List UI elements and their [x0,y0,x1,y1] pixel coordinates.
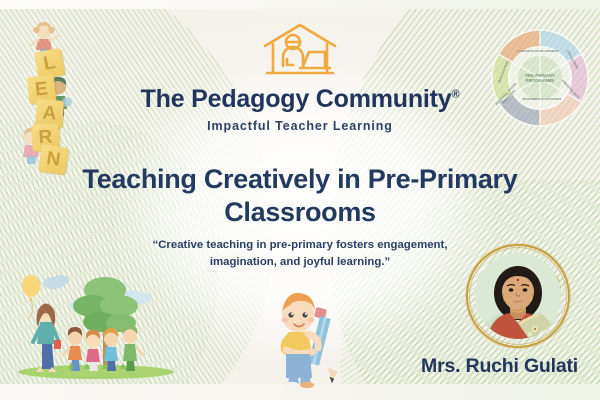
child-figure [63,327,82,371]
boy-figure [281,293,319,388]
scene-graphic [4,266,182,386]
presentation-slide: L E A R N [0,0,600,400]
brand-name: The Pedagogy Community® [0,86,600,112]
page-title: Teaching Creatively in Pre-Primary Class… [40,163,560,229]
speaker-portrait [466,244,570,348]
cloud-icon [43,275,69,289]
brand-header: The Pedagogy Community® Impactful Teache… [0,22,600,133]
balloon-icon [22,275,40,319]
teacher-figure [33,304,61,373]
brand-name-text: The Pedagogy Community [141,85,452,113]
registered-mark: ® [452,89,460,101]
boy-holding-pencil-illustration [268,284,352,388]
child-figure [123,325,143,371]
background-top-band [0,0,600,9]
boy-pencil-graphic [268,284,352,388]
brand-tagline: Impactful Teacher Learning [0,119,600,133]
portrait-inner-ring [469,247,567,345]
speaker-name: Mrs. Ruchi Gulati [421,355,578,378]
child-figure [86,330,100,371]
teacher-and-children-illustration [4,266,182,386]
house-with-person-at-laptop-icon [259,22,341,80]
